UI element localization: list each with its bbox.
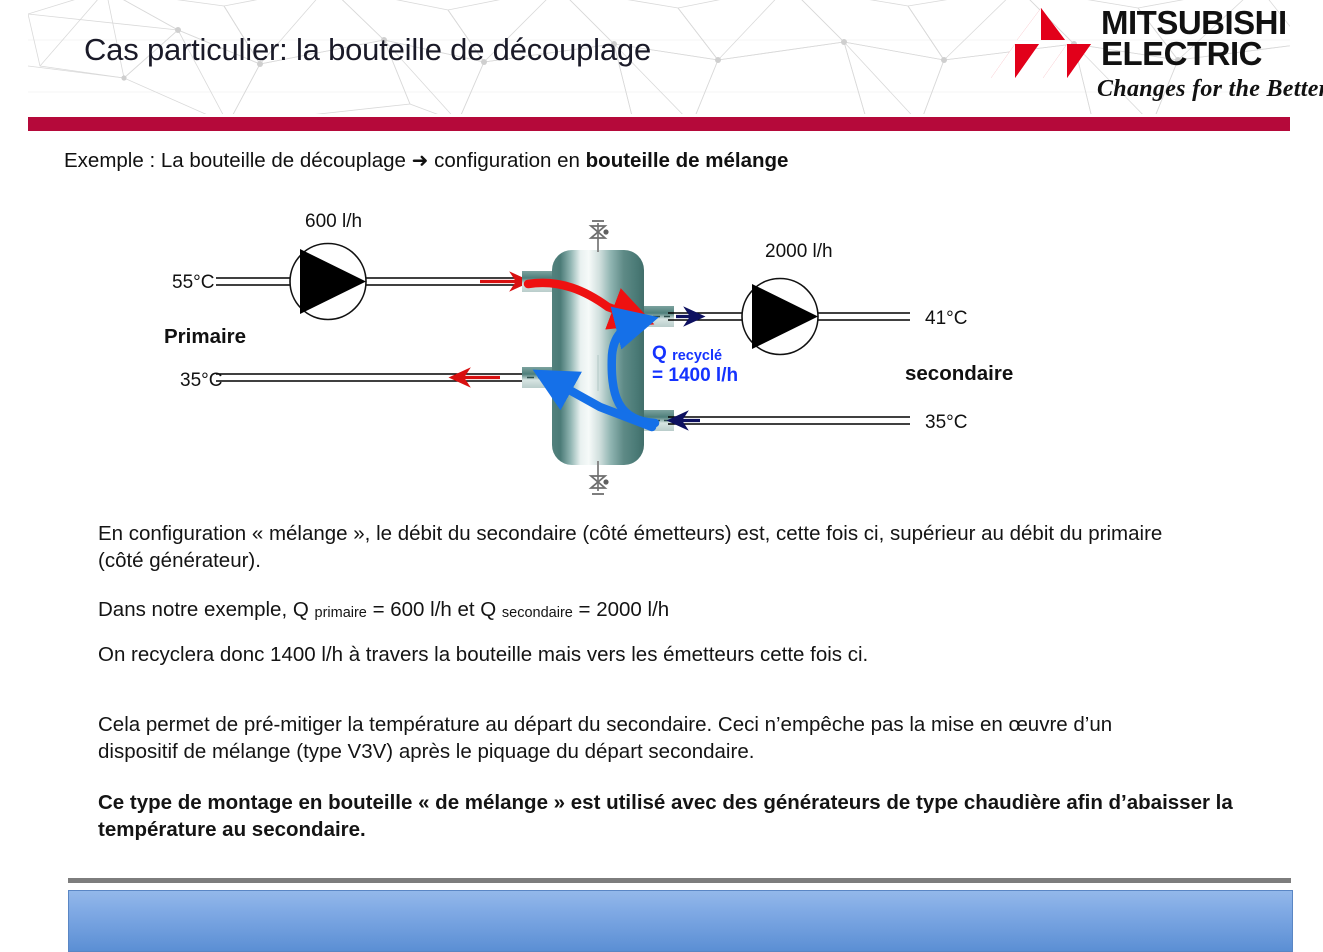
subtitle-prefix: Exemple : La bouteille de découplage: [64, 149, 412, 172]
recycle-value: = 1400 l/h: [652, 365, 738, 387]
mitsubishi-electric-logo: MITSUBISHI ELECTRIC Changes for the Bett…: [985, 4, 1295, 112]
secondary-supply-temp-label: 41°C: [925, 308, 967, 330]
primary-supply-pipe: [216, 278, 536, 285]
subtitle-emphasis: bouteille de mélange: [586, 149, 789, 172]
vessel-top-valve-icon: [591, 221, 609, 252]
page-title: Cas particulier: la bouteille de découpl…: [84, 33, 651, 67]
vessel-bottom-valve-icon: [591, 461, 609, 494]
recycle-subscript: recyclé: [672, 348, 722, 364]
logo-tagline: Changes for the Better: [1097, 76, 1323, 103]
secondary-return-pipe: [668, 417, 910, 424]
slide-subtitle: Exemple : La bouteille de découplage ➜ c…: [64, 148, 788, 173]
subtitle-middle: configuration en: [428, 149, 585, 172]
p2-prefix: Dans notre exemple, Q: [98, 598, 315, 621]
primary-supply-temp-label: 55°C: [172, 272, 214, 294]
footer-divider: [68, 878, 1291, 883]
recycle-symbol: Q: [652, 343, 667, 364]
primary-flow-label: 600 l/h: [305, 211, 362, 233]
recycle-flow-label: Q recyclé = 1400 l/h: [652, 343, 738, 387]
p2-suffix: = 2000 l/h: [573, 598, 669, 621]
logo-wordmark-line2: ELECTRIC: [1101, 39, 1287, 70]
secondary-flow-label: 2000 l/h: [765, 241, 833, 263]
three-diamonds-icon: [985, 6, 1097, 84]
primary-return-temp-label: 35°C: [180, 370, 222, 392]
slide-header: Cas particulier: la bouteille de découpl…: [0, 0, 1323, 114]
recycle-flow-symbol-row: Q recyclé: [652, 343, 738, 365]
p2-subscript-secondaire: secondaire: [502, 605, 573, 621]
body-paragraph-3: On recyclera donc 1400 l/h à travers la …: [98, 641, 1198, 668]
p2-middle: = 600 l/h et Q: [367, 598, 502, 621]
header-accent-bar: [28, 117, 1290, 131]
primary-side-label: Primaire: [164, 325, 246, 349]
logo-wordmark: MITSUBISHI ELECTRIC: [1101, 8, 1287, 69]
primary-return-pipe: [216, 374, 536, 381]
secondary-side-label: secondaire: [905, 362, 1013, 386]
body-paragraph-5: Ce type de montage en bouteille « de mél…: [98, 789, 1263, 844]
p2-subscript-primaire: primaire: [315, 605, 367, 621]
body-paragraph-2: Dans notre exemple, Q primaire = 600 l/h…: [98, 596, 1098, 623]
body-paragraph-4: Cela permet de pré-mitiger la températur…: [98, 711, 1188, 766]
secondary-pump-icon: [742, 279, 818, 355]
arrow-right-icon: ➜: [412, 148, 429, 172]
body-paragraph-1: En configuration « mélange », le débit d…: [98, 520, 1188, 575]
primary-pump-icon: [290, 244, 366, 320]
secondary-return-temp-label: 35°C: [925, 412, 967, 434]
footer-banner: [68, 890, 1293, 952]
